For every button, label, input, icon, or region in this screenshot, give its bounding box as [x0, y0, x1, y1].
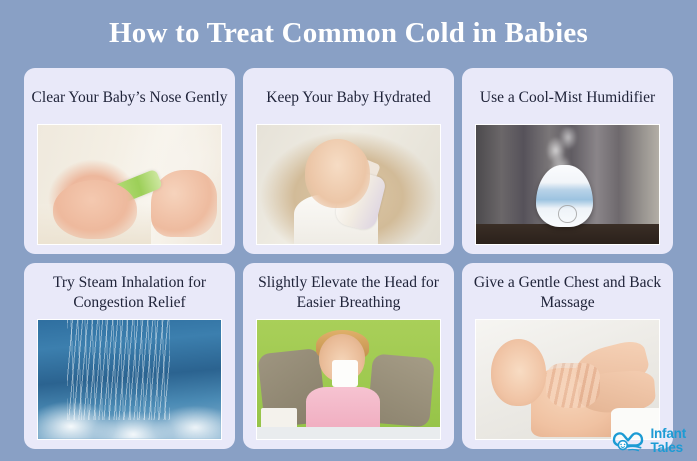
baby-chest-massage-photo	[476, 320, 659, 439]
photo-shape	[558, 205, 576, 222]
photo-shape	[491, 339, 546, 406]
tip-card-5-title: Slightly Elevate the Head for Easier Bre…	[243, 269, 454, 319]
photo-shape	[38, 382, 221, 439]
baby-nasal-aspirator-photo	[38, 125, 221, 244]
tip-card-3-image	[475, 124, 660, 245]
tip-card-1: Clear Your Baby’s Nose Gently	[24, 68, 235, 254]
cool-mist-humidifier-photo	[476, 125, 659, 244]
tip-card-2-image	[256, 124, 441, 245]
tip-card-6: Give a Gentle Chest and Back Massage	[462, 263, 673, 449]
toddler-blowing-nose-photo	[257, 320, 440, 439]
tip-card-6-image	[475, 319, 660, 440]
tip-card-1-title: Clear Your Baby’s Nose Gently	[26, 74, 234, 124]
tip-card-3-title: Use a Cool-Mist Humidifier	[474, 74, 661, 124]
tip-card-4: Try Steam Inhalation for Congestion Reli…	[24, 263, 235, 449]
photo-shape	[332, 360, 358, 386]
baby-bottle-feeding-photo	[257, 125, 440, 244]
tip-card-4-image	[37, 319, 222, 440]
logo-line-2: Tales	[650, 441, 686, 455]
header-bar: How to Treat Common Cold in Babies	[0, 0, 697, 68]
photo-shape	[333, 168, 387, 231]
tip-card-5: Slightly Elevate the Head for Easier Bre…	[243, 263, 454, 449]
tip-card-6-title: Give a Gentle Chest and Back Massage	[462, 269, 673, 319]
photo-shape	[546, 363, 601, 408]
tip-card-2-title: Keep Your Baby Hydrated	[260, 74, 436, 124]
photo-shape	[257, 427, 440, 439]
baby-heart-icon	[611, 428, 645, 454]
page-title: How to Treat Common Cold in Babies	[109, 18, 588, 50]
photo-shape	[38, 204, 151, 244]
brand-logo: Infant Tales	[611, 427, 686, 454]
tip-card-1-image	[37, 124, 222, 245]
tip-card-5-image	[256, 319, 441, 440]
logo-line-1: Infant	[650, 427, 686, 441]
steam-shower-photo	[38, 320, 221, 439]
tip-card-3: Use a Cool-Mist Humidifier	[462, 68, 673, 254]
tips-grid: Clear Your Baby’s Nose Gently Keep Your …	[0, 68, 697, 449]
tip-card-2: Keep Your Baby Hydrated	[243, 68, 454, 254]
logo-wordmark: Infant Tales	[650, 427, 686, 454]
tip-card-4-title: Try Steam Inhalation for Congestion Reli…	[24, 269, 235, 319]
photo-shape	[151, 170, 217, 237]
